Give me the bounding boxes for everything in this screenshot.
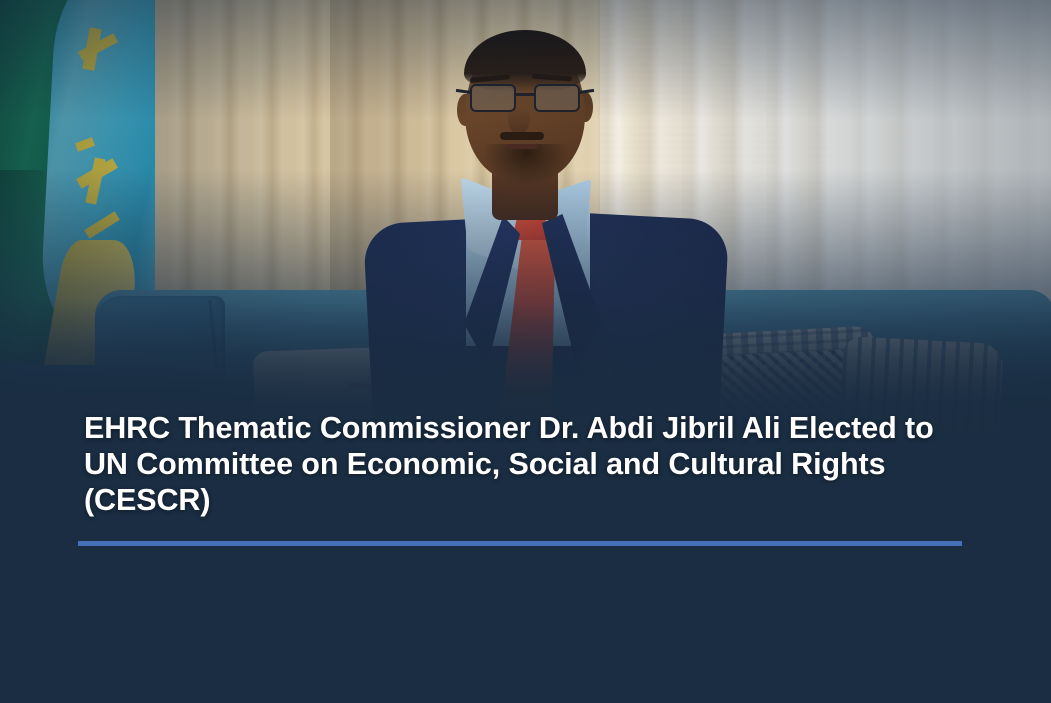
hero-photo (0, 0, 1051, 470)
page-title: EHRC Thematic Commissioner Dr. Abdi Jibr… (84, 410, 984, 518)
horizontal-divider (78, 541, 962, 546)
public-statement-banner: EHRC Thematic Commissioner Dr. Abdi Jibr… (0, 0, 1051, 703)
footer-bar: የኢትዮጵያ ሰብአዊ መብቶች ኮሚሽን ETHIOPIAN HUMAN RI… (0, 552, 1051, 632)
